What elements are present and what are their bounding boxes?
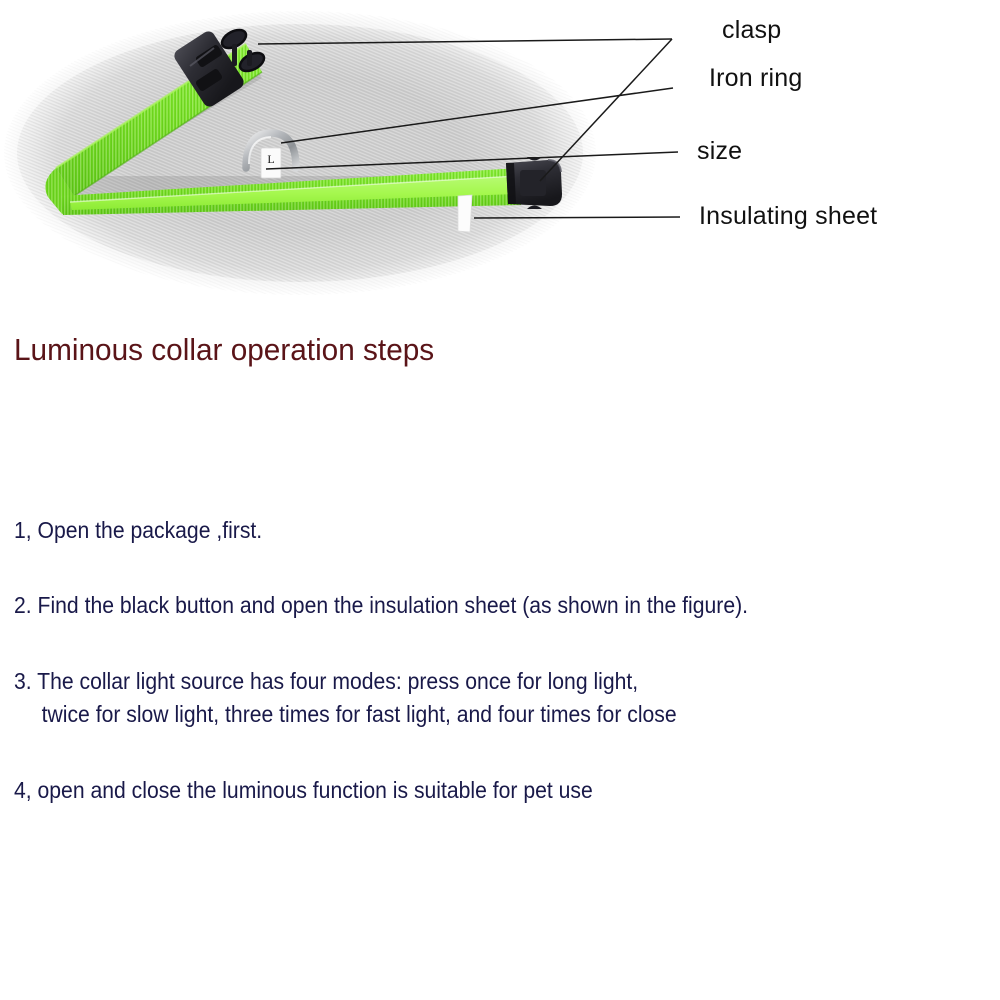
step-text-continued: twice for slow light, three times for fa… <box>14 700 897 729</box>
instruction-steps: 1, Open the package ,first. 2. Find the … <box>14 516 974 805</box>
step-text: 3. The collar light source has four mode… <box>14 668 638 694</box>
page-title: Luminous collar operation steps <box>14 331 434 368</box>
leader-line-insulating-sheet <box>474 217 680 218</box>
step-item: 4, open and close the luminous function … <box>14 776 897 805</box>
size-tag: L <box>261 148 281 178</box>
step-text: 1, Open the package ,first. <box>14 517 262 543</box>
step-text: 4, open and close the luminous function … <box>14 777 593 803</box>
callout-label-iron-ring: Iron ring <box>709 66 803 91</box>
side-release-clasp <box>506 157 562 209</box>
step-item: 3. The collar light source has four mode… <box>14 667 897 730</box>
step-item: 1, Open the package ,first. <box>14 516 897 545</box>
callout-label-size: size <box>697 139 742 164</box>
size-tag-letter: L <box>267 152 274 166</box>
step-text: 2. Find the black button and open the in… <box>14 592 748 618</box>
step-item: 2. Find the black button and open the in… <box>14 591 897 620</box>
callout-label-insulating-sheet: Insulating sheet <box>699 204 877 229</box>
product-diagram: L <box>0 0 1000 310</box>
callout-label-clasp: clasp <box>722 18 781 43</box>
insulating-sheet-tab <box>458 195 472 232</box>
collar-photo: L <box>0 0 1000 310</box>
